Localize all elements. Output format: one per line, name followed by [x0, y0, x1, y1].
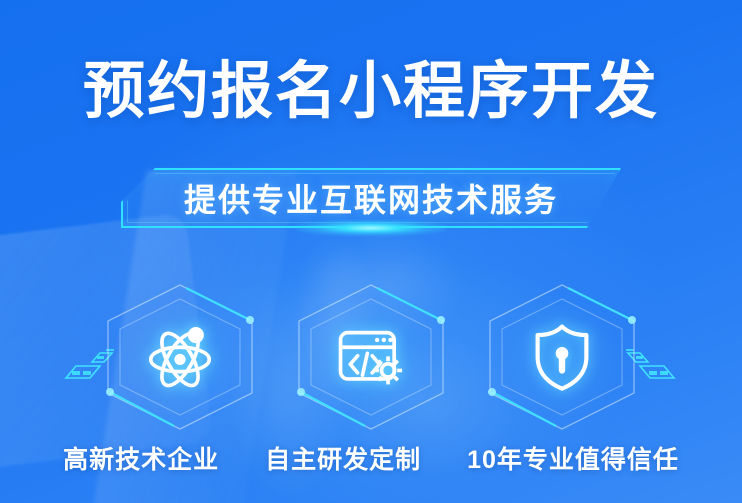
- subtitle-banner: 提供专业互联网技术服务: [0, 168, 742, 230]
- feature-icon-row: [0, 282, 742, 432]
- code-window-gear-icon: [332, 318, 410, 396]
- feature-label-2: 10年专业值得信任: [467, 440, 679, 476]
- feature-hex-0[interactable]: [100, 282, 260, 432]
- feature-label-0: 高新技术企业: [63, 440, 219, 476]
- feature-hex-2[interactable]: [482, 282, 642, 432]
- feature-hex-1[interactable]: [291, 282, 451, 432]
- atom-icon: [141, 318, 219, 396]
- lens-flare-glow: [296, 220, 446, 236]
- subtitle-text: 提供专业互联网技术服务: [121, 168, 621, 228]
- page-title: 预约报名小程序开发: [0, 55, 742, 128]
- feature-label-1: 自主研发定制: [265, 440, 421, 476]
- promo-banner-root: 预约报名小程序开发 提供专业互联网技术服务: [0, 0, 742, 503]
- feature-label-row: 高新技术企业 自主研发定制 10年专业值得信任: [0, 440, 742, 476]
- shield-lock-icon: [523, 318, 601, 396]
